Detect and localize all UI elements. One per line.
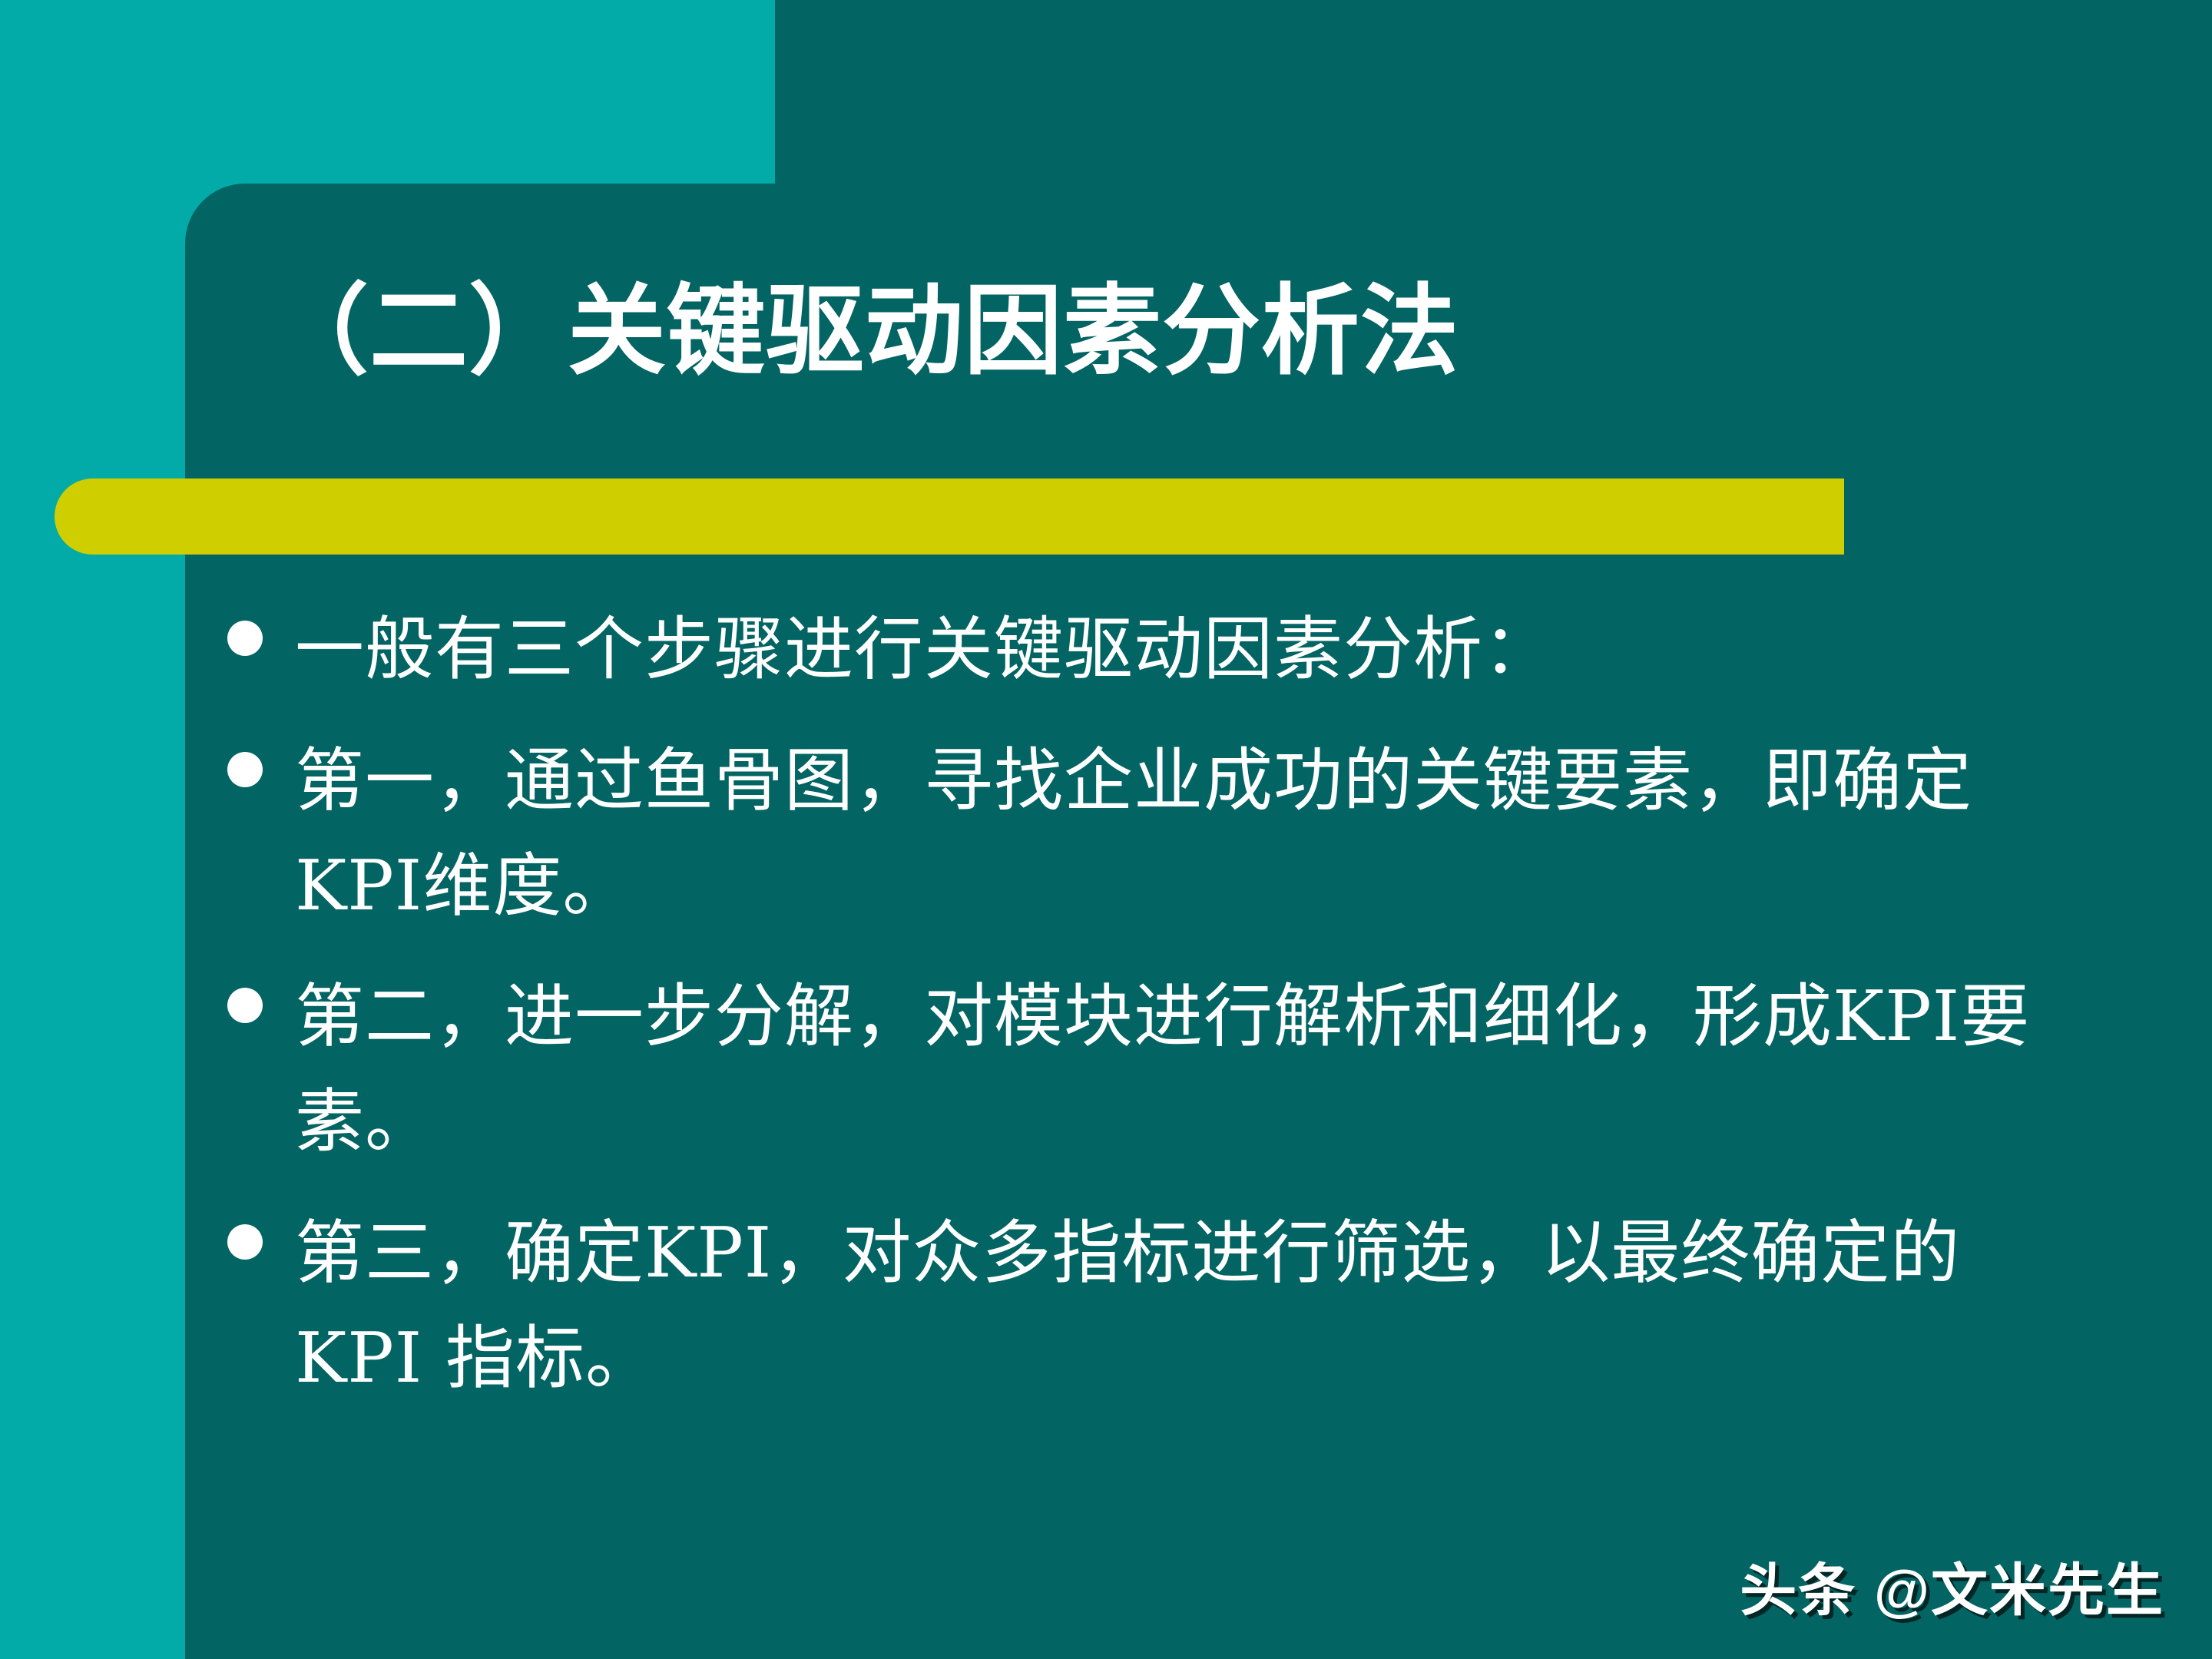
bullet-dot-icon <box>227 621 263 656</box>
watermark-label: 头条 @文米先生 <box>1740 1545 2164 1627</box>
background-left-strip <box>0 0 185 1659</box>
list-item: 第二，进一步分解，对模块进行解析和细化，形成KPI要素。 <box>227 965 2086 1175</box>
list-item: 第三，确定KPI，对众多指标进行筛选，以最终确定的KPI 指标。 <box>227 1201 2086 1412</box>
bullet-dot-icon <box>227 988 263 1023</box>
background-top-right-band <box>775 0 2212 184</box>
list-item-label: 第一，通过鱼骨图，寻找企业成功的关键要素，即确定KPI维度。 <box>295 729 2086 939</box>
bullet-list: 一般有三个步骤进行关键驱动因素分析： 第一，通过鱼骨图，寻找企业成功的关键要素，… <box>227 598 2086 1438</box>
list-item-label: 一般有三个步骤进行关键驱动因素分析： <box>295 598 2086 703</box>
presentation-slide: （二）关键驱动因素分析法 一般有三个步骤进行关键驱动因素分析： 第一，通过鱼骨图… <box>0 0 2212 1659</box>
list-item-label: 第三，确定KPI，对众多指标进行筛选，以最终确定的KPI 指标。 <box>295 1201 2086 1412</box>
list-item-label: 第二，进一步分解，对模块进行解析和细化，形成KPI要素。 <box>295 965 2086 1175</box>
bullet-dot-icon <box>227 752 263 787</box>
bullet-dot-icon <box>227 1224 263 1260</box>
list-item: 第一，通过鱼骨图，寻找企业成功的关键要素，即确定KPI维度。 <box>227 729 2086 939</box>
background-light-teal-block <box>0 0 775 184</box>
list-item: 一般有三个步骤进行关键驱动因素分析： <box>227 598 2086 703</box>
slide-title: （二）关键驱动因素分析法 <box>270 276 2037 386</box>
title-accent-bar <box>55 478 1844 555</box>
